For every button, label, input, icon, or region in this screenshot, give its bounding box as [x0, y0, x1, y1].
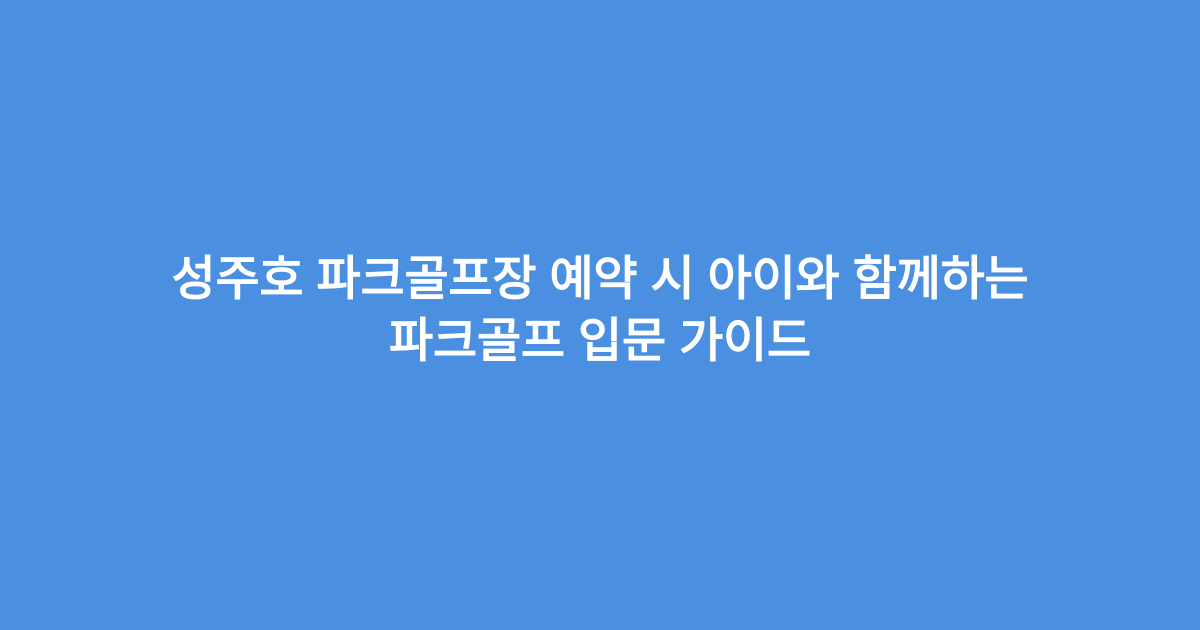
page-title: 성주호 파크골프장 예약 시 아이와 함께하는 파크골프 입문 가이드 — [100, 249, 1100, 373]
og-share-card: 성주호 파크골프장 예약 시 아이와 함께하는 파크골프 입문 가이드 — [0, 0, 1200, 630]
page-title-text: 성주호 파크골프장 예약 시 아이와 함께하는 파크골프 입문 가이드 — [100, 249, 1100, 373]
